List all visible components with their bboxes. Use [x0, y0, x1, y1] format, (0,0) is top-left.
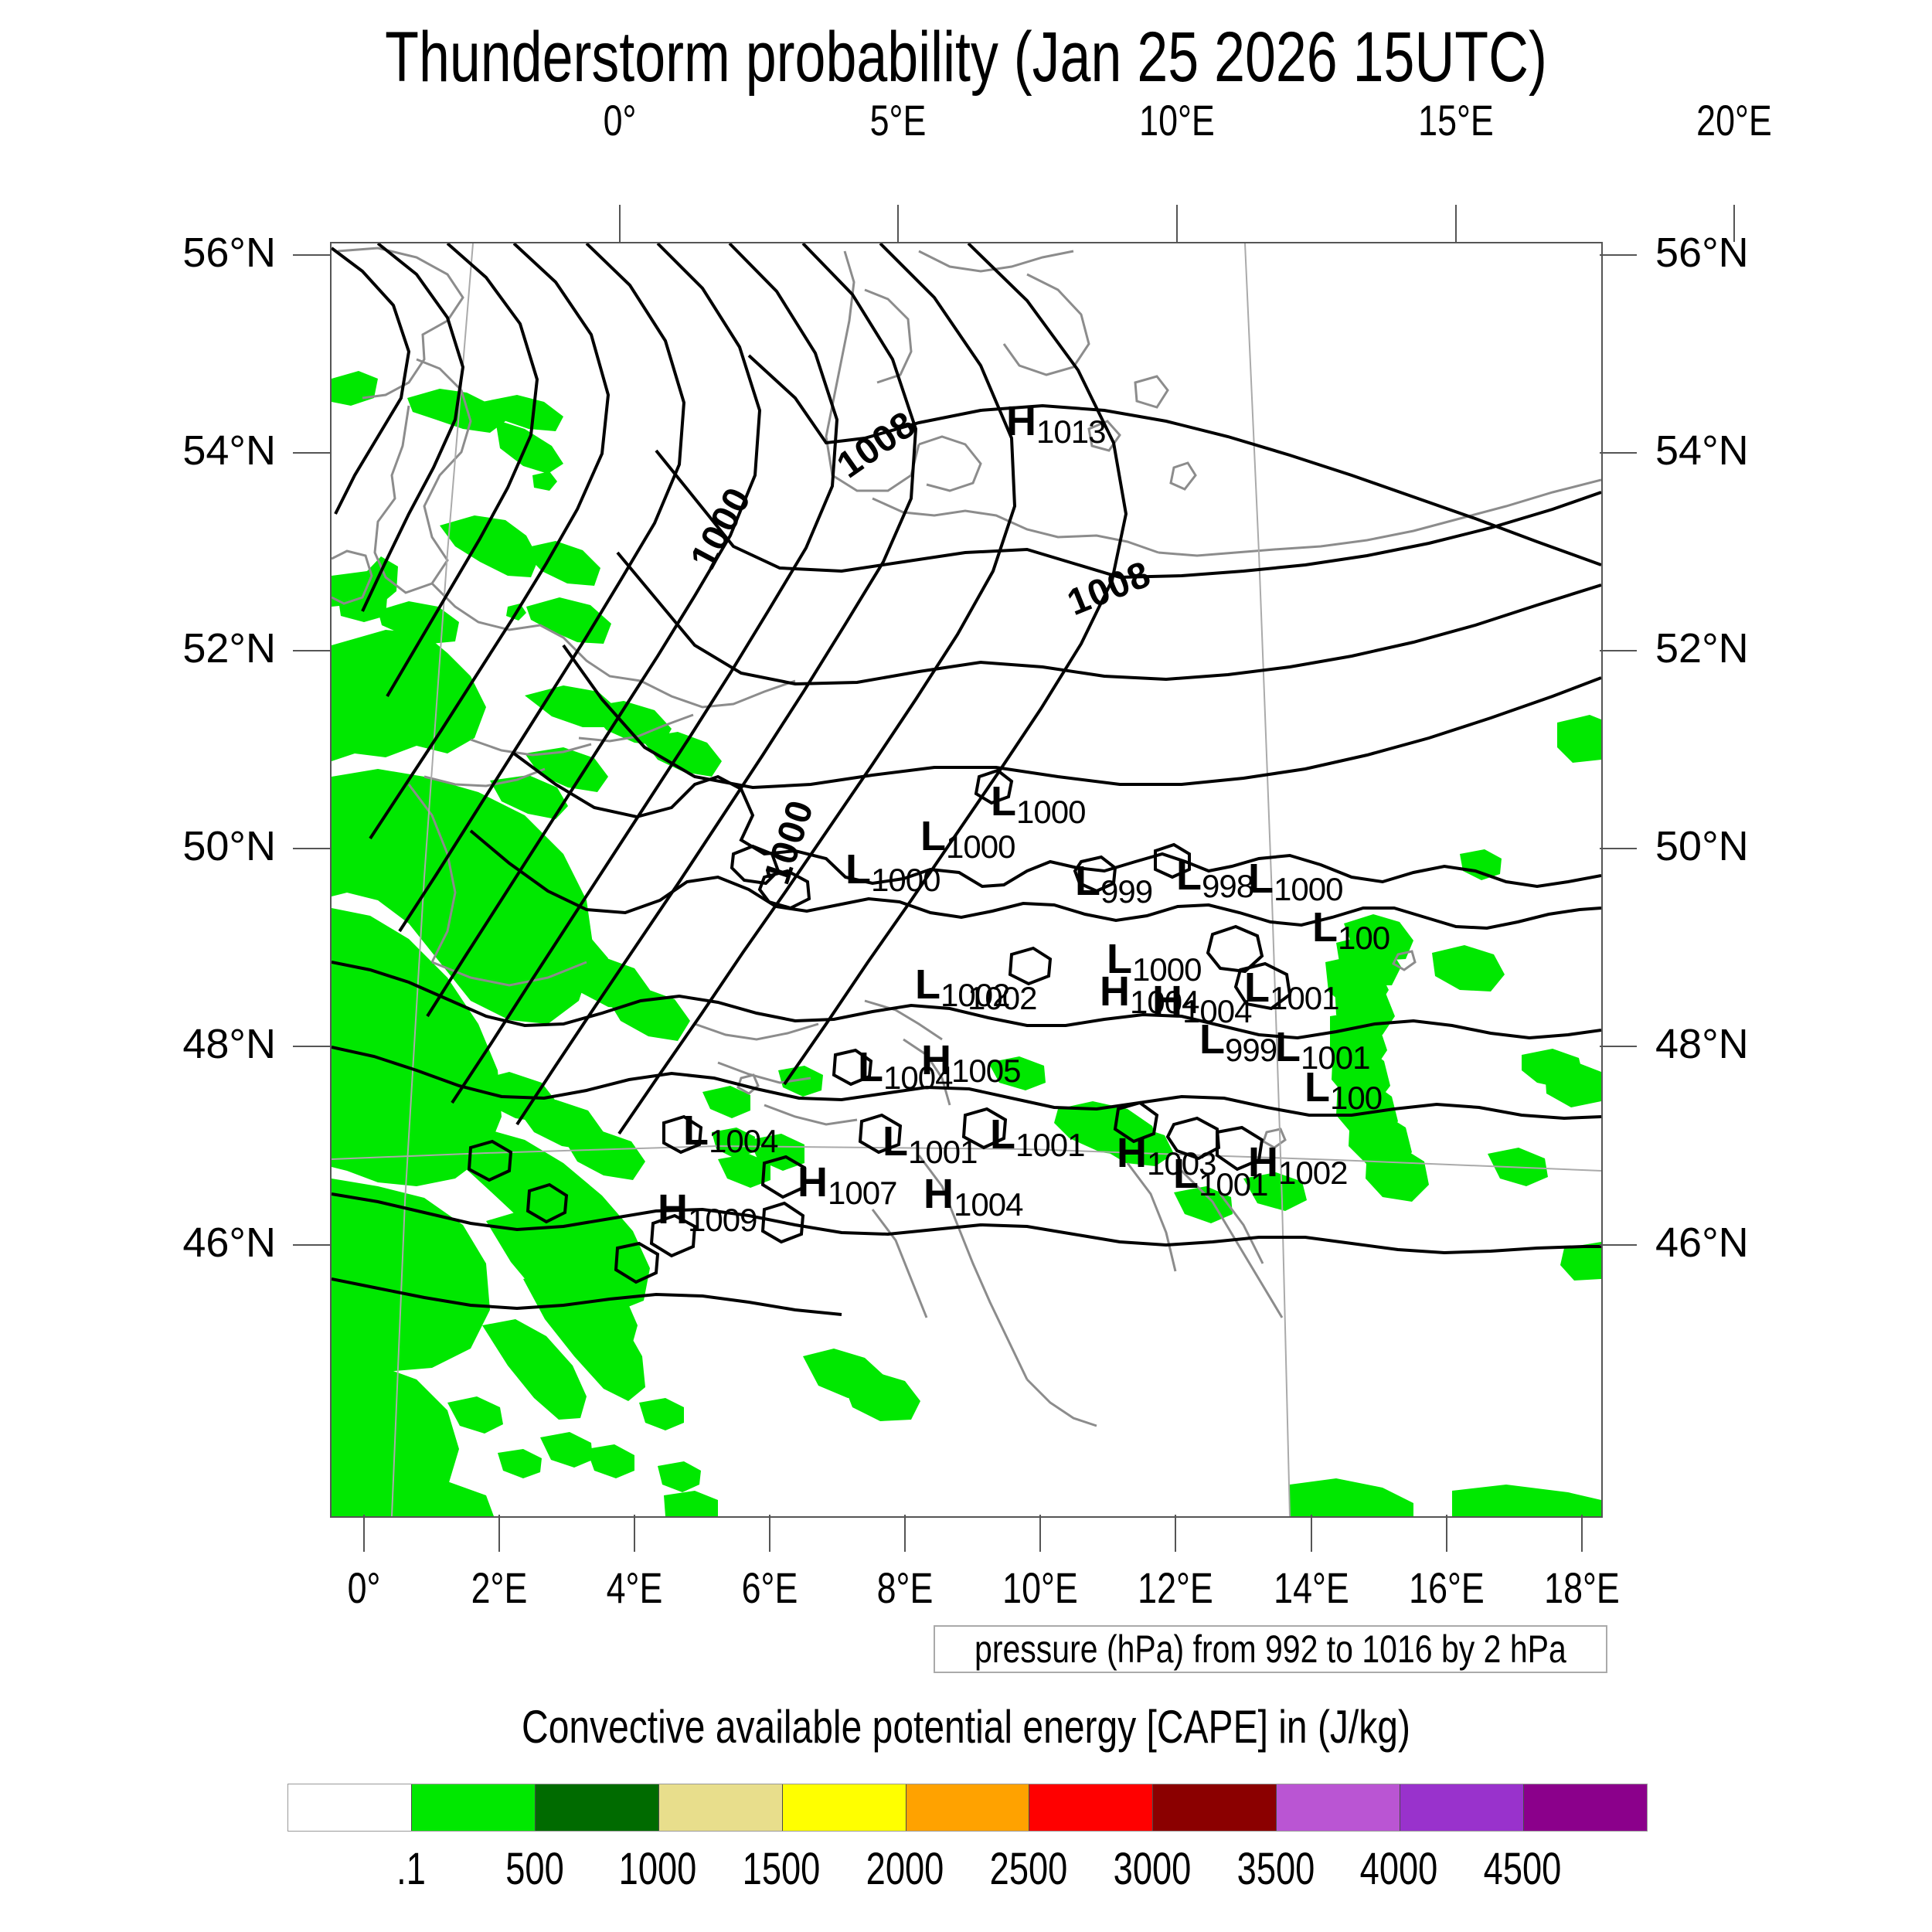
pressure-center-symbol: L	[1304, 1064, 1330, 1111]
pressure-center-value: 1000	[946, 828, 1015, 865]
lon-label-bottom-9: 18°E	[1508, 1563, 1656, 1613]
lat-label-left-0: 56°N	[90, 229, 276, 277]
pressure-center-h-0: H1013	[1006, 400, 1105, 442]
pressure-center-h-24: H1007	[798, 1162, 896, 1203]
lon-label-bottom-2: 4°E	[560, 1563, 709, 1613]
pressure-center-h-16: H1005	[921, 1039, 1020, 1081]
inline-contour-value: 1002	[968, 975, 1036, 1007]
lon-label-bottom-1: 2°E	[425, 1563, 573, 1613]
lat-label-right-1: 54°N	[1655, 427, 1841, 474]
lat-label-right-5: 46°N	[1655, 1219, 1841, 1267]
pressure-center-value: 999	[1225, 1032, 1277, 1068]
pressure-legend-text: pressure (hPa) from 992 to 1016 by 2 hPa	[975, 1627, 1566, 1672]
pressure-center-l-6: L1000	[1248, 858, 1342, 900]
lon-label-bottom-4: 8°E	[831, 1563, 979, 1613]
pressure-center-l-7: L100	[1312, 906, 1389, 948]
pressure-center-value: 1007	[828, 1175, 896, 1211]
pressure-center-l-13: L999	[1199, 1019, 1277, 1060]
lon-tick-top-1	[897, 205, 899, 242]
lon-tick-bottom-9	[1581, 1515, 1583, 1552]
pressure-center-value: 1001	[1015, 1127, 1084, 1163]
colorbar-swatch-9[interactable]	[1400, 1784, 1523, 1831]
pressure-center-h-11: H1004	[1152, 980, 1251, 1022]
pressure-center-symbol: L	[1075, 858, 1100, 904]
lon-label-top-4: 20°E	[1660, 95, 1808, 145]
lat-tick-left-4	[293, 1046, 330, 1047]
cape-colorbar-labels: .150010001500200025003000350040004500	[287, 1843, 1646, 1905]
lon-tick-bottom-4	[904, 1515, 906, 1552]
lat-tick-left-1	[293, 452, 330, 454]
lat-tick-right-2	[1600, 650, 1637, 651]
pressure-center-symbol: L	[858, 1044, 883, 1090]
inline-contour-value-text: 1002	[968, 980, 1036, 1016]
lon-tick-top-2	[1176, 205, 1178, 242]
colorbar-tick-label-9: 4500	[1462, 1843, 1583, 1895]
pressure-center-l-4: L999	[1075, 860, 1152, 902]
lon-tick-bottom-8	[1446, 1515, 1447, 1552]
lat-label-right-2: 52°N	[1655, 624, 1841, 672]
cape-colorbar[interactable]	[287, 1784, 1648, 1832]
pressure-center-value: 1000	[1016, 794, 1085, 830]
lat-tick-left-0	[293, 254, 330, 256]
pressure-center-symbol: H	[923, 1171, 954, 1217]
pressure-center-value: 1000	[1274, 871, 1342, 907]
colorbar-swatch-6[interactable]	[1029, 1784, 1152, 1831]
pressure-center-symbol: H	[1152, 978, 1182, 1024]
pressure-center-l-5: L998	[1176, 855, 1253, 896]
pressure-center-l-12: L1001	[1244, 967, 1338, 1009]
lon-label-bottom-8: 16°E	[1372, 1563, 1521, 1613]
pressure-center-h-23: H1002	[1248, 1141, 1347, 1183]
pressure-center-symbol: L	[990, 1111, 1015, 1158]
map-canvas	[332, 243, 1601, 1516]
lon-label-top-3: 15°E	[1382, 95, 1530, 145]
colorbar-swatch-2[interactable]	[535, 1784, 658, 1831]
lat-tick-left-3	[293, 848, 330, 849]
lon-tick-bottom-0	[363, 1515, 365, 1552]
colorbar-swatch-7[interactable]	[1152, 1784, 1276, 1831]
colorbar-swatch-4[interactable]	[782, 1784, 906, 1831]
pressure-center-value: 999	[1100, 873, 1152, 910]
pressure-center-symbol: L	[1312, 904, 1338, 951]
lat-label-left-1: 54°N	[90, 427, 276, 474]
pressure-center-l-19: L1001	[883, 1121, 977, 1162]
pressure-center-symbol: L	[1244, 964, 1270, 1011]
cape-shading-layer	[332, 371, 1601, 1516]
pressure-center-symbol: H	[658, 1186, 688, 1233]
map-panel[interactable]: H1013L1000L1000L1000L999L998L1000L100L10…	[330, 242, 1603, 1518]
pressure-center-symbol: H	[1248, 1139, 1278, 1185]
lon-tick-bottom-6	[1175, 1515, 1176, 1552]
lat-tick-right-1	[1600, 452, 1637, 454]
lat-label-right-3: 50°N	[1655, 822, 1841, 870]
colorbar-tick-label-0: .1	[351, 1843, 471, 1895]
colorbar-tick-label-3: 1500	[721, 1843, 842, 1895]
pressure-center-symbol: H	[1117, 1130, 1147, 1176]
lon-label-bottom-0: 0°	[290, 1563, 438, 1613]
lat-label-left-5: 46°N	[90, 1219, 276, 1267]
colorbar-swatch-10[interactable]	[1523, 1784, 1647, 1831]
pressure-center-value: 1004	[709, 1123, 777, 1159]
colorbar-swatch-0[interactable]	[288, 1784, 411, 1831]
pressure-center-symbol: L	[845, 846, 871, 893]
colorbar-tick-label-2: 1000	[597, 1843, 718, 1895]
pressure-center-value: 100	[1330, 1080, 1382, 1116]
lon-label-bottom-5: 10°E	[966, 1563, 1114, 1613]
colorbar-tick-label-4: 2000	[845, 1843, 965, 1895]
lat-label-right-4: 48°N	[1655, 1020, 1841, 1068]
pressure-center-value: 1005	[951, 1053, 1020, 1089]
pressure-center-symbol: L	[915, 961, 940, 1008]
pressure-center-h-26: H1009	[658, 1189, 757, 1230]
lat-tick-right-3	[1600, 848, 1637, 849]
page-title: Thunderstorm probability (Jan 25 2026 15…	[213, 17, 1719, 98]
pressure-center-l-17: L100	[1304, 1066, 1382, 1108]
lon-label-top-0: 0°	[546, 95, 694, 145]
pressure-center-symbol: L	[883, 1118, 908, 1165]
pressure-center-symbol: L	[1275, 1024, 1301, 1070]
cape-axis-title: Convective available potential energy [C…	[193, 1700, 1739, 1753]
pressure-center-value: 1001	[908, 1134, 977, 1170]
pressure-center-value: 1001	[1270, 980, 1338, 1016]
pressure-center-value: 1009	[688, 1202, 757, 1238]
colorbar-swatch-1[interactable]	[411, 1784, 535, 1831]
colorbar-swatch-5[interactable]	[906, 1784, 1029, 1831]
pressure-center-symbol: L	[1248, 855, 1274, 902]
pressure-center-l-3: L1000	[845, 849, 940, 890]
lat-tick-left-2	[293, 650, 330, 651]
pressure-center-symbol: H	[1100, 968, 1130, 1015]
pressure-center-symbol: L	[1173, 1151, 1199, 1197]
lon-tick-top-3	[1455, 205, 1457, 242]
lon-tick-top-0	[619, 205, 621, 242]
pressure-center-symbol: L	[1176, 852, 1202, 899]
lat-tick-right-4	[1600, 1046, 1637, 1047]
lon-tick-bottom-1	[498, 1515, 500, 1552]
lat-label-left-3: 50°N	[90, 822, 276, 870]
colorbar-swatch-8[interactable]	[1276, 1784, 1400, 1831]
lat-tick-right-5	[1600, 1244, 1637, 1246]
pressure-center-l-14: L1001	[1275, 1026, 1369, 1068]
lat-label-right-0: 56°N	[1655, 229, 1841, 277]
lon-tick-bottom-7	[1311, 1515, 1312, 1552]
lon-label-bottom-6: 12°E	[1101, 1563, 1250, 1613]
colorbar-tick-label-5: 2500	[968, 1843, 1089, 1895]
lon-tick-bottom-3	[769, 1515, 770, 1552]
pressure-center-symbol: L	[683, 1107, 709, 1154]
pressure-center-value: 1000	[871, 862, 940, 898]
pressure-center-h-25: H1004	[923, 1173, 1022, 1215]
lat-label-left-4: 48°N	[90, 1020, 276, 1068]
pressure-center-value: 1002	[1278, 1155, 1347, 1191]
pressure-center-l-20: L1001	[990, 1114, 1084, 1155]
pressure-center-value: 1004	[954, 1186, 1022, 1223]
pressure-center-symbol: H	[798, 1159, 828, 1206]
colorbar-tick-label-8: 4000	[1338, 1843, 1459, 1895]
lat-tick-right-0	[1600, 254, 1637, 256]
lon-label-bottom-3: 6°E	[696, 1563, 844, 1613]
pressure-center-symbol: H	[1006, 398, 1036, 444]
lon-tick-bottom-2	[634, 1515, 635, 1552]
pressure-center-value: 100	[1338, 920, 1389, 956]
colorbar-tick-label-1: 500	[474, 1843, 595, 1895]
colorbar-swatch-3[interactable]	[658, 1784, 782, 1831]
colorbar-tick-label-6: 3000	[1092, 1843, 1213, 1895]
lon-label-top-2: 10°E	[1103, 95, 1251, 145]
pressure-center-value: 998	[1202, 868, 1253, 904]
pressure-center-value: 1013	[1036, 413, 1105, 450]
pressure-legend-box: pressure (hPa) from 992 to 1016 by 2 hPa	[934, 1625, 1607, 1673]
lon-tick-bottom-5	[1039, 1515, 1041, 1552]
pressure-center-l-18: L1004	[683, 1110, 777, 1151]
lon-label-bottom-7: 14°E	[1237, 1563, 1386, 1613]
lat-label-left-2: 52°N	[90, 624, 276, 672]
pressure-center-symbol: H	[921, 1037, 951, 1083]
pressure-center-symbol: L	[1199, 1016, 1225, 1063]
lon-label-top-1: 5°E	[824, 95, 972, 145]
colorbar-tick-label-7: 3500	[1216, 1843, 1336, 1895]
lat-tick-left-5	[293, 1244, 330, 1246]
